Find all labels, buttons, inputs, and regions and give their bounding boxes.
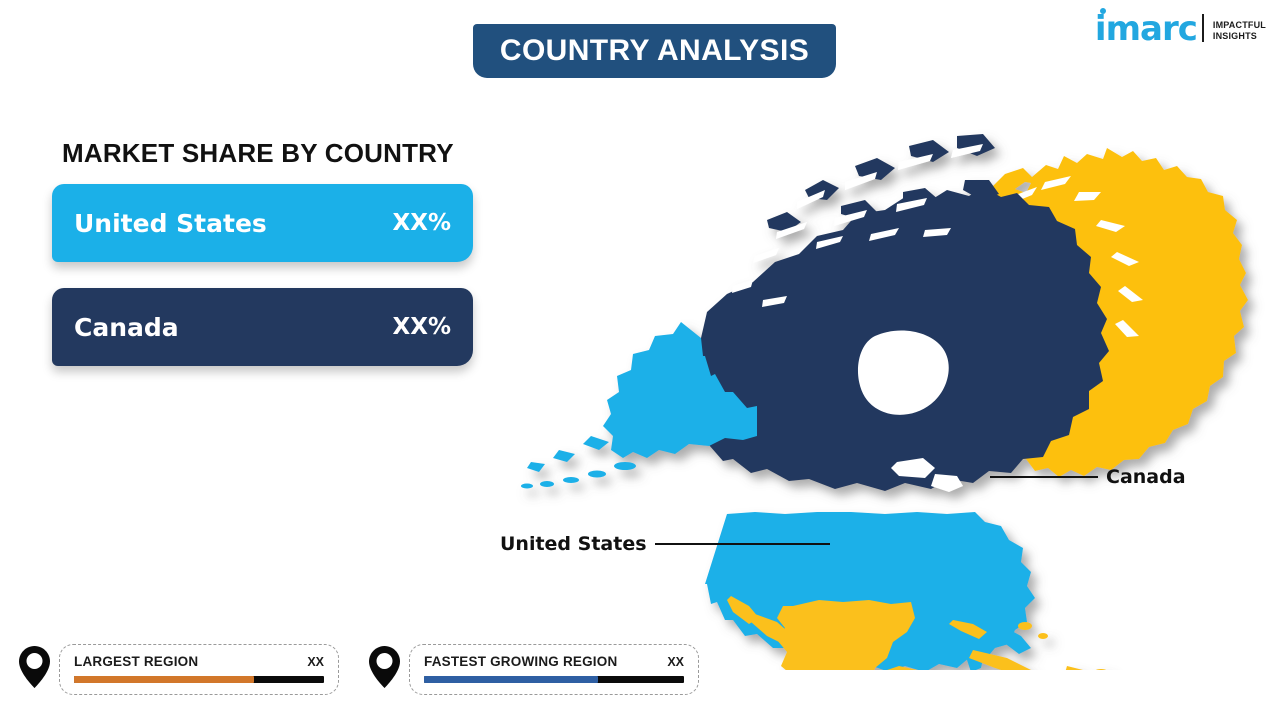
logo-dot-icon: [1100, 8, 1106, 14]
logo-wordmark-wrap: imarc: [1095, 14, 1197, 45]
share-bar-label-canada: Canada: [74, 313, 179, 342]
legend-value-fastest-growing-region: XX: [667, 655, 684, 669]
logo-wordmark: imarc: [1095, 9, 1197, 49]
share-bar-value-united-states: XX%: [392, 210, 451, 236]
callout-label-canada: Canada: [1106, 466, 1186, 488]
panel-heading: MARKET SHARE BY COUNTRY: [62, 138, 454, 169]
legend-label-largest-region: LARGEST REGION: [74, 654, 198, 669]
slide-canvas: COUNTRY ANALYSIS imarc IMPACTFUL INSIGHT…: [0, 0, 1280, 720]
location-pin-icon: [18, 645, 51, 694]
callout-leader-line: [990, 476, 1098, 478]
legend-fastest-growing-region: FASTEST GROWING REGION XX: [368, 644, 699, 695]
map-svg: [505, 70, 1280, 670]
legend-progress-track-fastest: [424, 676, 684, 683]
callout-united-states: United States: [500, 533, 830, 555]
share-bar-united-states[interactable]: United States XX%: [52, 184, 473, 262]
imarc-logo: imarc IMPACTFUL INSIGHTS: [1095, 14, 1266, 45]
legend-row: FASTEST GROWING REGION XX: [424, 654, 684, 669]
legend-row: LARGEST REGION XX: [74, 654, 324, 669]
legend-progress-fill-fastest: [424, 676, 598, 683]
location-pin-icon: [368, 645, 401, 694]
logo-tagline: IMPACTFUL INSIGHTS: [1213, 20, 1266, 43]
callout-leader-line: [655, 543, 830, 545]
legend-progress-fill-largest: [74, 676, 254, 683]
logo-tagline-line1: IMPACTFUL: [1213, 20, 1266, 31]
logo-tagline-line2: INSIGHTS: [1213, 31, 1266, 42]
share-bar-value-canada: XX%: [392, 314, 451, 340]
logo-divider: [1202, 14, 1204, 42]
legend-box-fastest-growing-region: FASTEST GROWING REGION XX: [409, 644, 699, 695]
north-america-map: [505, 70, 1280, 670]
legend-box-largest-region: LARGEST REGION XX: [59, 644, 339, 695]
callout-canada: Canada: [990, 466, 1186, 488]
legend-value-largest-region: XX: [307, 655, 324, 669]
callout-label-united-states: United States: [500, 533, 647, 555]
share-bar-label-united-states: United States: [74, 209, 267, 238]
page-title: COUNTRY ANALYSIS: [500, 34, 809, 68]
share-bar-canada[interactable]: Canada XX%: [52, 288, 473, 366]
legend-label-fastest-growing-region: FASTEST GROWING REGION: [424, 654, 617, 669]
legend-largest-region: LARGEST REGION XX: [18, 644, 339, 695]
legend-progress-track-largest: [74, 676, 324, 683]
